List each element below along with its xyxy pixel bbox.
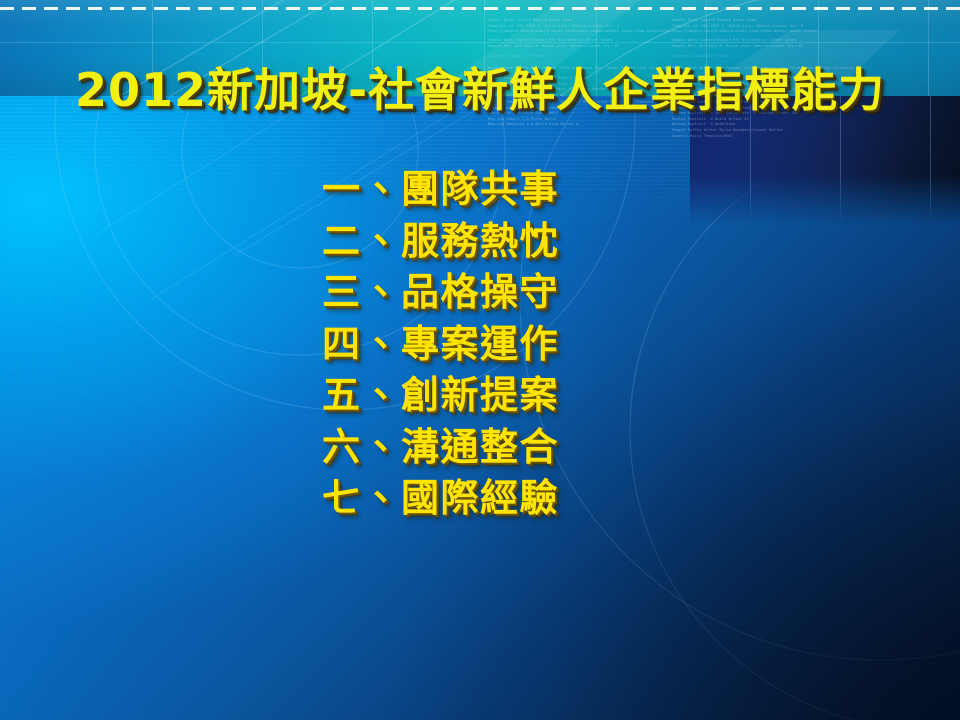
- header-horizontal-rule: [0, 42, 960, 43]
- bullet-item-6: 六、溝通整合: [322, 422, 652, 474]
- bullet-list: 一、團隊共事 二、服務熱忱 三、品格操守 四、專案運作 五、創新提案 六、溝通整…: [322, 164, 652, 525]
- bullet-item-3: 三、品格操守: [322, 267, 652, 319]
- bullet-item-1: 一、團隊共事: [322, 164, 652, 216]
- bullet-item-2: 二、服務熱忱: [322, 216, 652, 268]
- presentation-slide: Sample Data: Record Module Asset Item Te…: [0, 0, 960, 720]
- bullet-item-7: 七、國際經驗: [322, 473, 652, 525]
- header-dashed-line: [0, 7, 960, 10]
- slide-title: 2012新加坡-社會新鮮人企業指標能力: [0, 67, 960, 113]
- bullet-item-4: 四、專案運作: [322, 319, 652, 371]
- bullet-item-5: 五、創新提案: [322, 370, 652, 422]
